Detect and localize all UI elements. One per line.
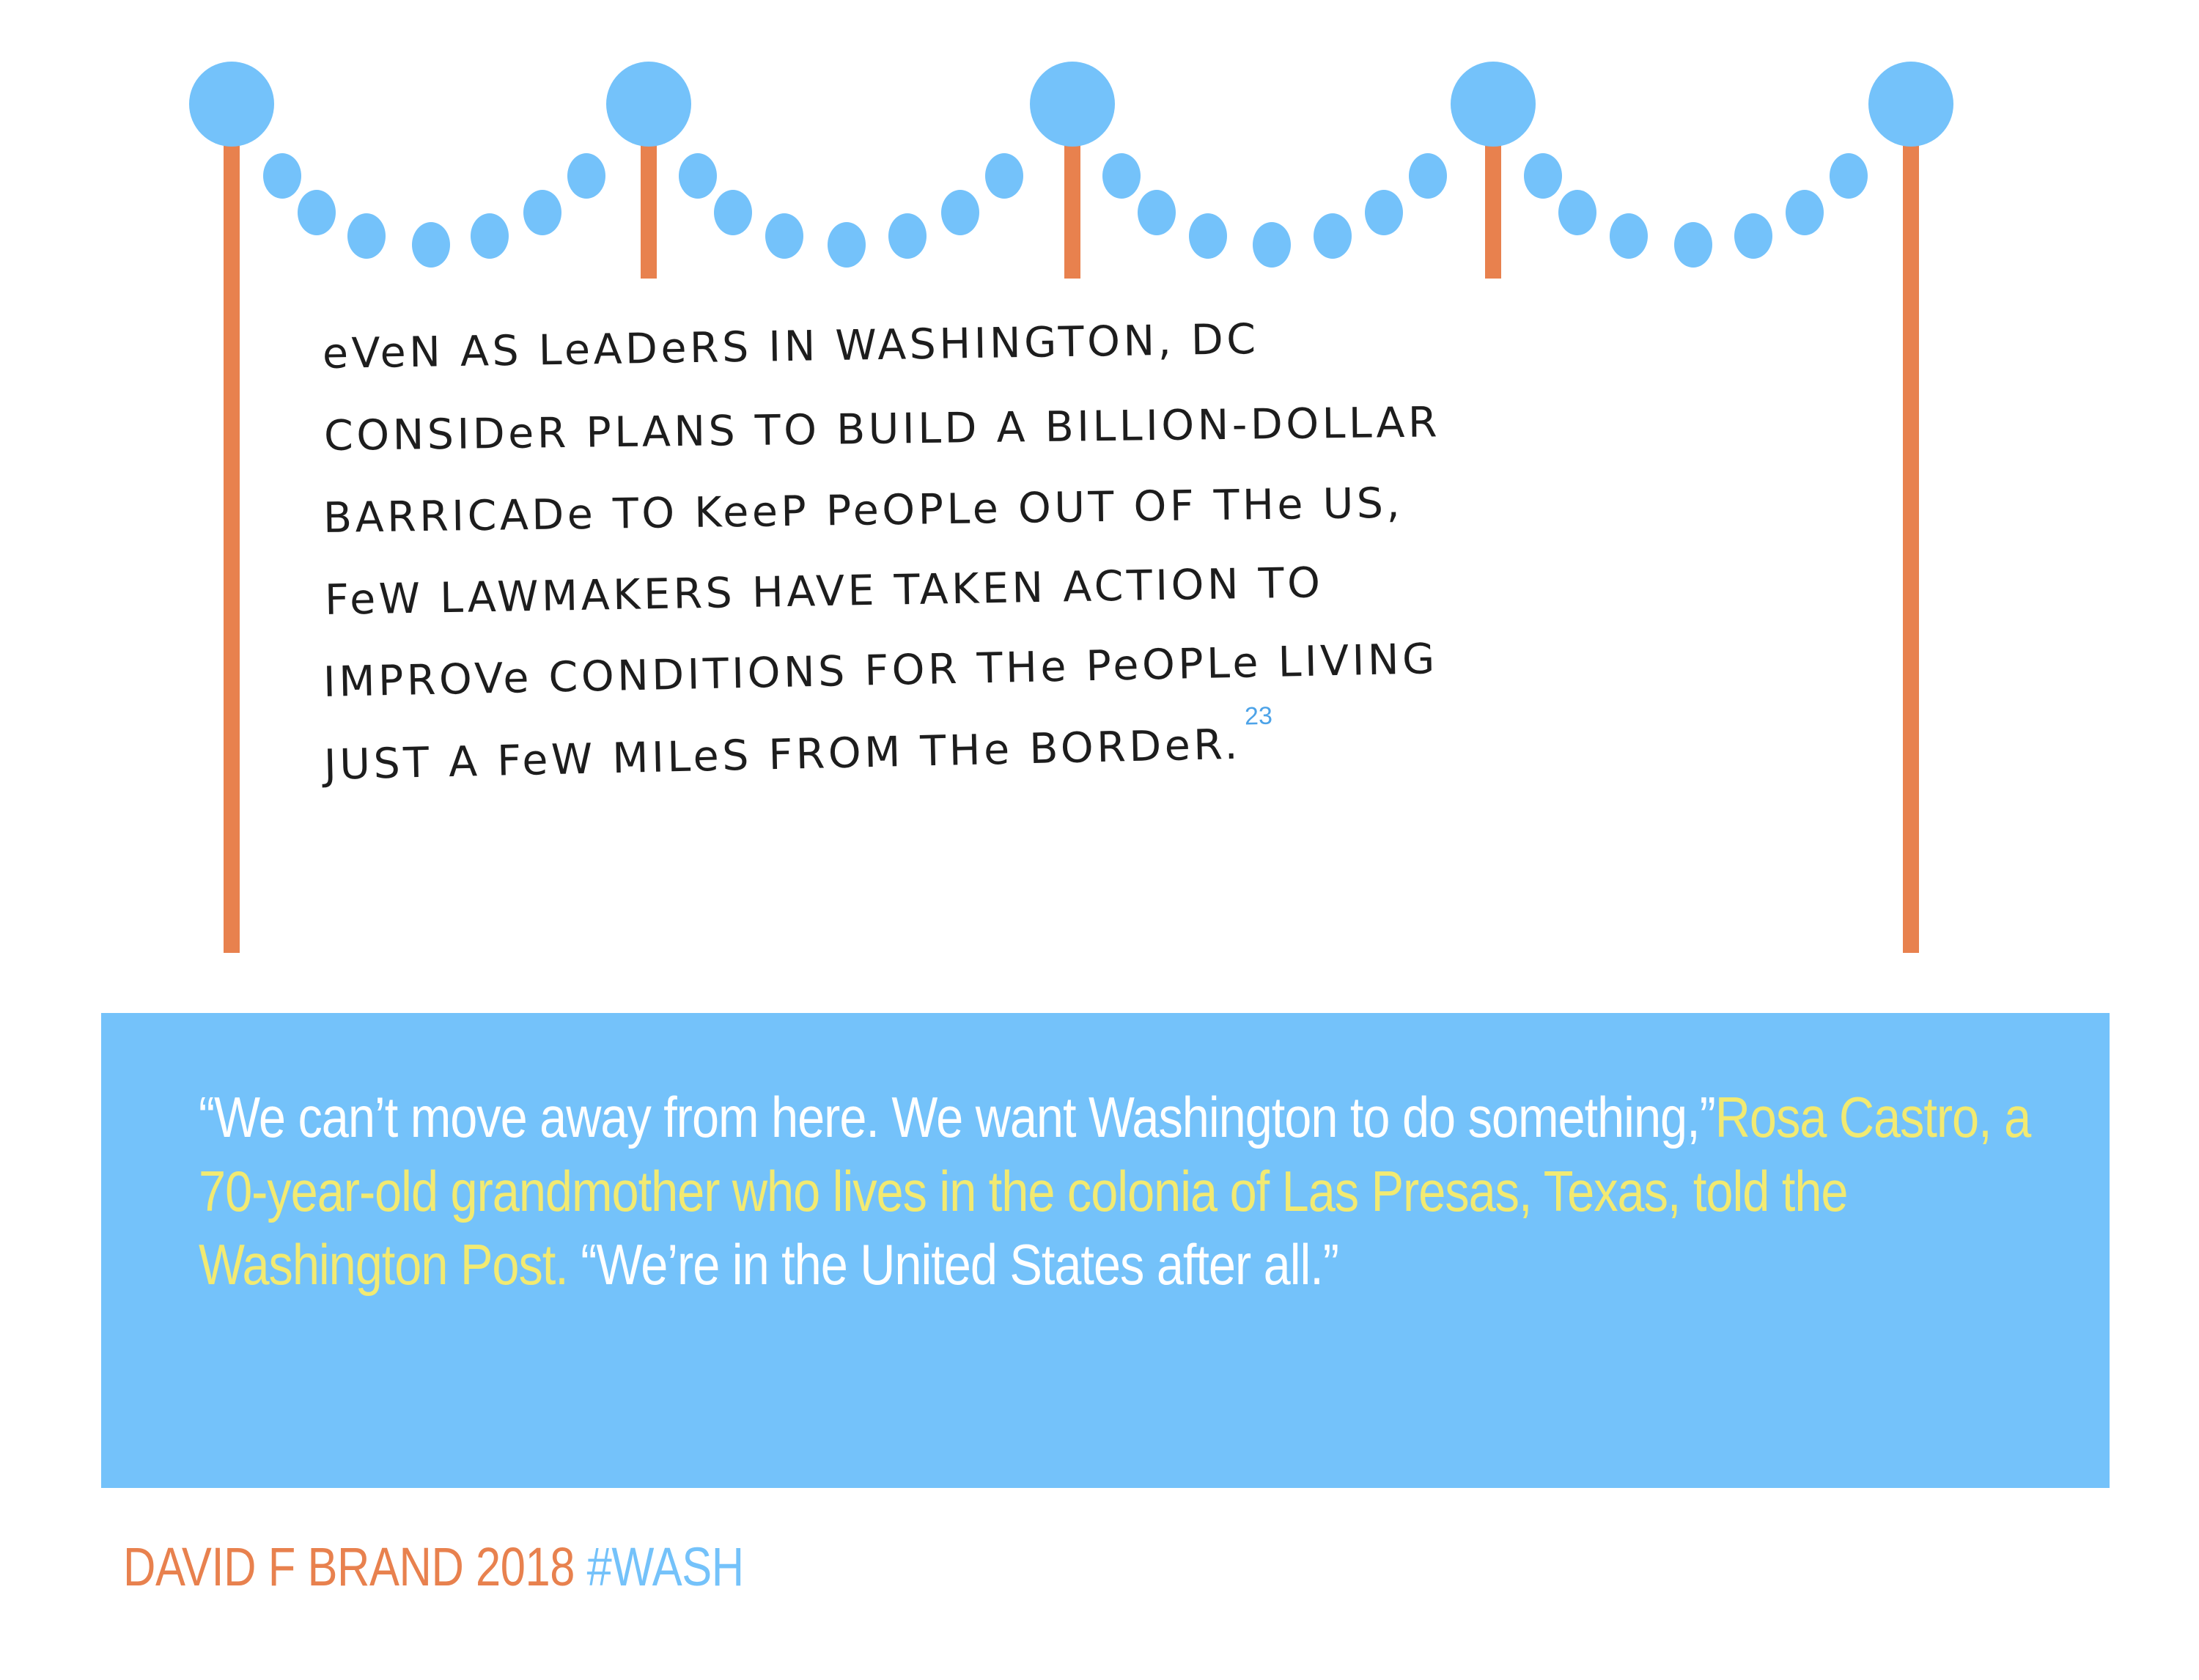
footer-credit: DAVID F BRAND 2018 #WASH [123,1536,744,1598]
handwritten-line-text: eVeN AS LeADeRS IN WASHINGTON, DC [323,319,1259,375]
garland-dot [412,222,450,268]
garland-dot [714,190,752,235]
garland-dot [1138,190,1176,235]
quote-panel: “We can’t move away from here. We want W… [101,1013,2110,1488]
garland-finial [189,62,274,147]
garland-finial [606,62,691,147]
handwritten-line: FeW LAWMAKERS HAVE TAKEN ACTION TO [325,553,1877,622]
garland-finial [1030,62,1115,147]
garland-pole [641,110,657,279]
garland-pole [1903,110,1919,953]
garland-pole [1064,110,1080,279]
garland-dot [523,190,561,235]
garland-pole [1485,110,1501,279]
garland-dot [1786,190,1824,235]
handwritten-line: eVeN AS LeADeRS IN WASHINGTON, DC [323,309,1877,375]
garland-dot [1365,190,1403,235]
garland-dot [1734,213,1772,259]
garland-dot [888,213,927,259]
garland-dot [1674,222,1712,268]
garland-dot [828,222,866,268]
garland-dot [1830,153,1868,199]
garland-dot [1610,213,1648,259]
garland-dot [765,213,803,259]
garland-dot [567,153,605,199]
garland-dot [1524,153,1562,199]
garland-dot [1558,190,1596,235]
garland-dot [1102,153,1141,199]
handwritten-line-text: BARRICADe TO KeeP PeOPLe OUT OF THe US, [323,482,1404,539]
garland-finial [1451,62,1536,147]
garland-dot [985,153,1023,199]
footnote-reference[interactable]: 23 [1245,702,1273,731]
handwritten-line: CONSIDeR PLANS TO BUILD A BILLION-DOLLAR [324,397,1877,457]
handwritten-line: IMPROVe CONDITIONS FOR THe PeOPLe LIVING [323,630,1876,704]
garland-dot [679,153,717,199]
garland-finial [1868,62,1953,147]
garland-dot [298,190,336,235]
handwritten-note: eVeN AS LeADeRS IN WASHINGTON, DC CONSID… [323,334,1876,827]
garland-pole [224,110,240,953]
handwritten-line-text: CONSIDeR PLANS TO BUILD A BILLION-DOLLAR [324,402,1441,457]
quote-text: “We can’t move away from here. We want W… [199,1080,2076,1302]
garland-dot [471,213,509,259]
credit-author: DAVID F BRAND 2018 [123,1536,575,1597]
handwritten-line-text: JUST A FeW MILeS FROM THe BORDeR. [323,724,1241,786]
garland-pole-finials [189,62,1953,147]
handwritten-line: JUST A FeW MILeS FROM THe BORDeR.23 [323,709,1876,786]
handwritten-line-text: IMPROVe CONDITIONS FOR THe PeOPLe LIVING [323,638,1438,704]
quote-part-one: “We can’t move away from here. We want W… [199,1085,1715,1149]
garland-dot [1253,222,1291,268]
garland-dot [941,190,979,235]
handwritten-line: BARRICADe TO KeeP PeOPLe OUT OF THe US, [323,476,1877,539]
handwritten-line-text: FeW LAWMAKERS HAVE TAKEN ACTION TO [325,562,1324,622]
garland-dot [1189,213,1227,259]
garland-dot [1314,213,1352,259]
garland-dot [263,153,301,199]
quote-part-two: “We’re in the United States after all.” [568,1232,1338,1297]
garland-swags [263,153,1868,268]
garland-dot [347,213,386,259]
garland-dot [1409,153,1447,199]
credit-hashtag[interactable]: #WASH [587,1536,744,1597]
